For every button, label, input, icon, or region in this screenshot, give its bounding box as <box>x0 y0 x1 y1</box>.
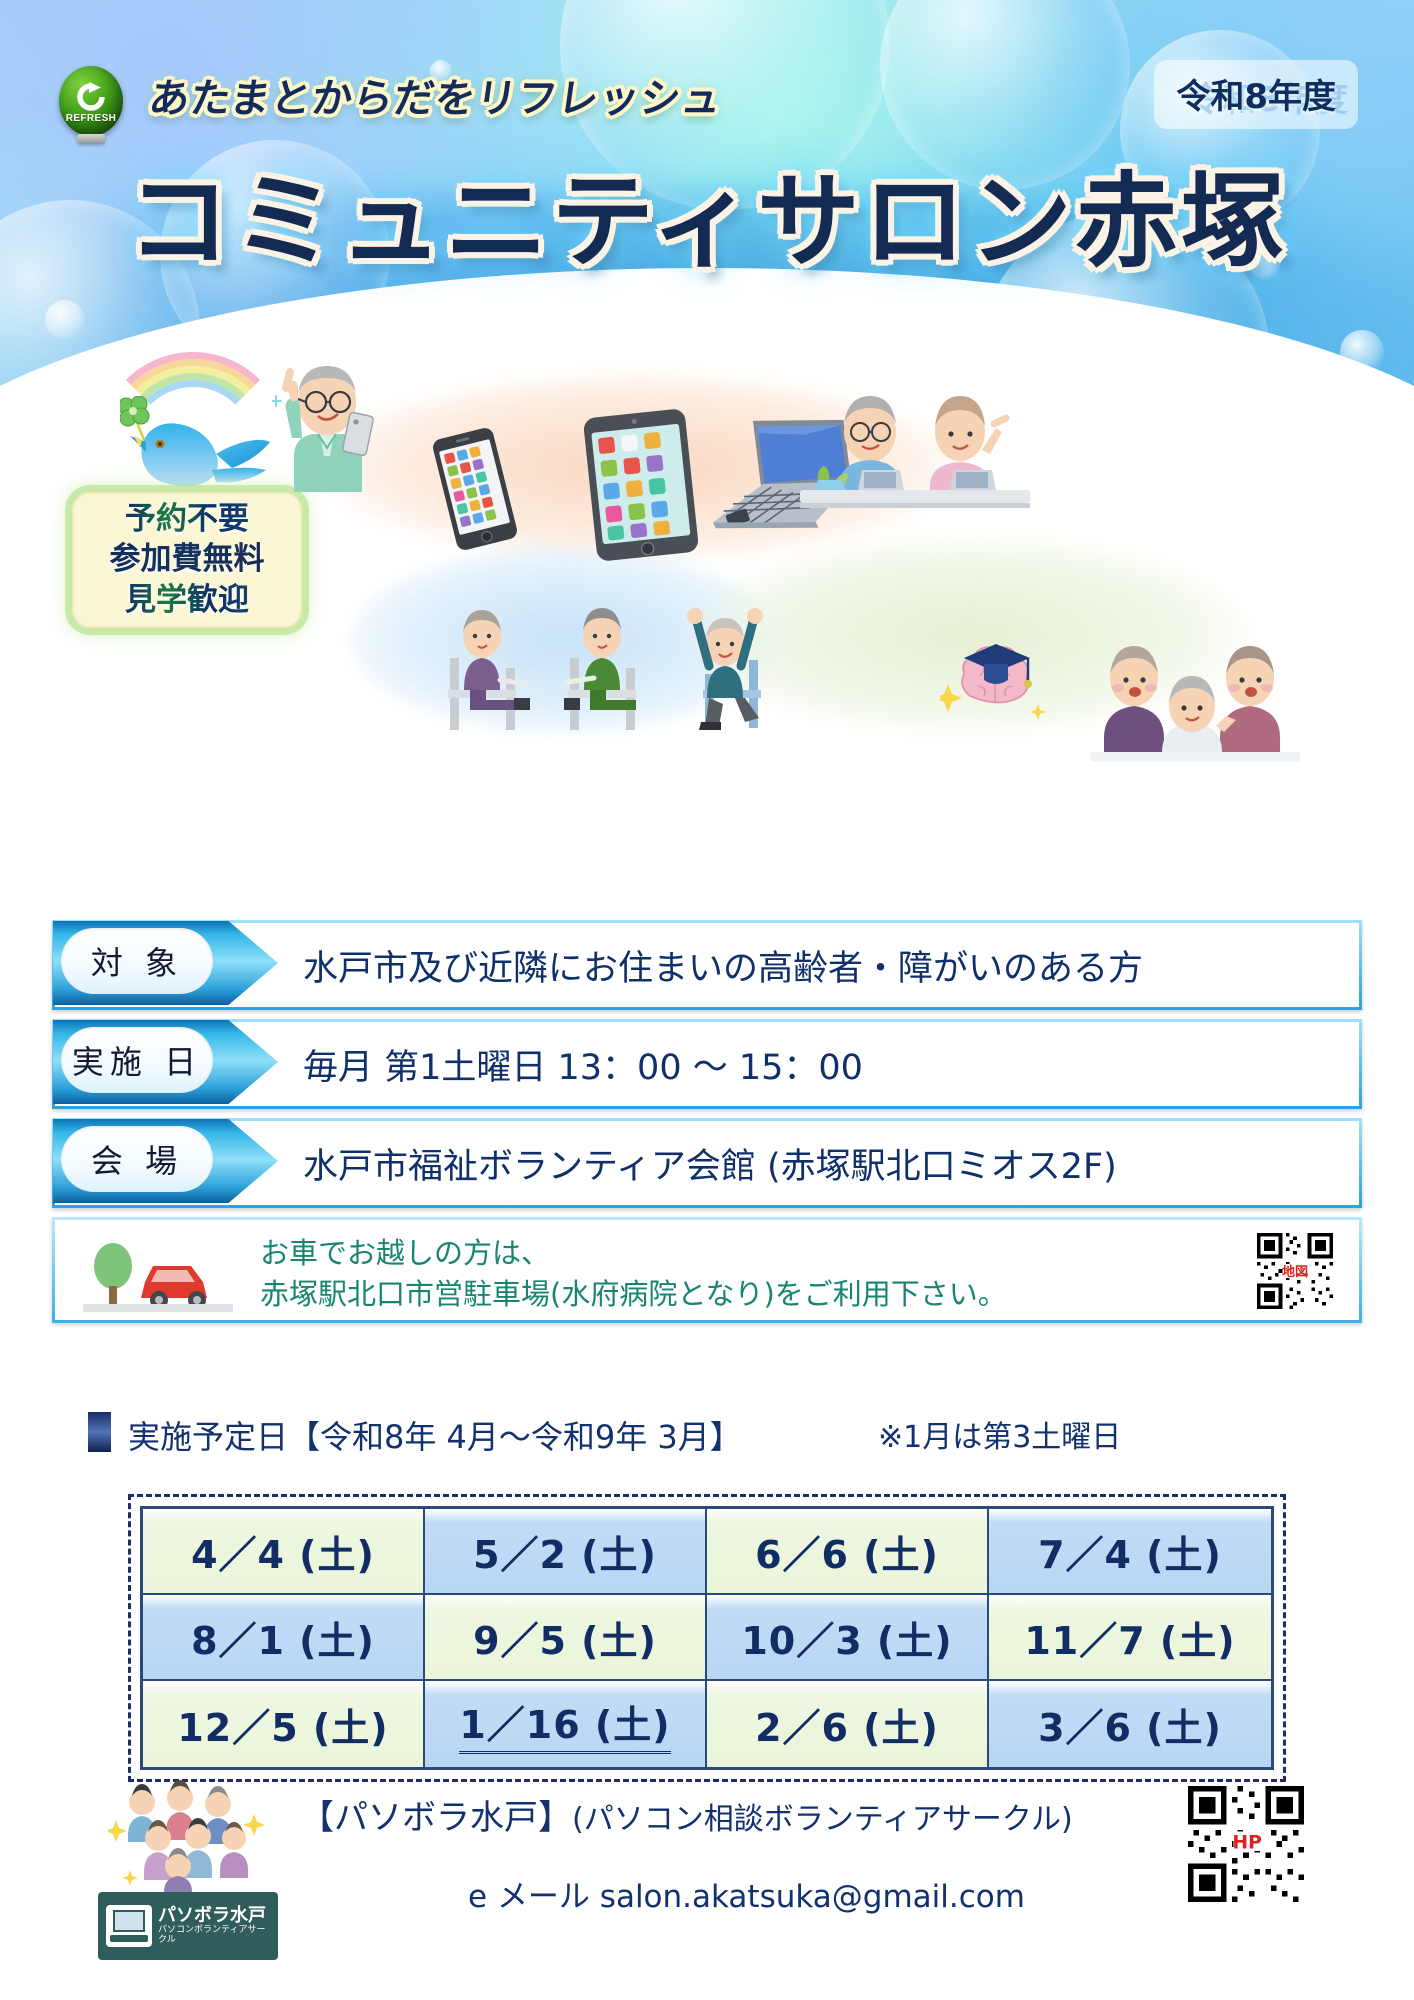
schedule-heading: 実施予定日【令和8年 4月〜令和9年 3月】 <box>128 1412 742 1458</box>
notice-box: 予約不要 参加費無料 見学歓迎 <box>72 492 302 628</box>
page-title: コミュニティサロン赤塚 <box>0 138 1414 287</box>
schedule-note: ※1月は第3土曜日 <box>878 1412 1121 1456</box>
schedule-date-cell: 2／6 (土) <box>707 1681 989 1767</box>
email-label: e メール <box>468 1879 590 1915</box>
pasovola-logo-badge: パソボラ水戸 パソコンボランティアサークル <box>98 1892 278 1960</box>
info-row-date: 実施 日 毎月 第1土曜日 13：00 〜 15：00 <box>52 1019 1362 1109</box>
organizer-subtitle: (パソコン相談ボランティアサークル) <box>572 1802 1073 1837</box>
info-label-text: 会 場 <box>61 1126 213 1192</box>
feature-section: 予約不要 参加費無料 見学歓迎 <box>0 330 1414 930</box>
seated-exercise-illustration <box>430 606 810 736</box>
parking-line-2: 赤塚駅北口市営駐車場(水府病院となり)をご利用下さい。 <box>260 1274 1007 1315</box>
map-qr-label: 地図 <box>1282 1264 1308 1280</box>
info-label-text: 対 象 <box>61 928 213 994</box>
schedule-date-text: 7／4 (土) <box>1038 1524 1222 1579</box>
schedule-date-cell: 10／3 (土) <box>707 1595 989 1681</box>
tablet-icon <box>578 405 703 566</box>
schedule-date-text: 1／16 (土) <box>459 1694 670 1754</box>
schedule-header: 実施予定日【令和8年 4月〜令和9年 3月】 ※1月は第3土曜日 <box>88 1406 1338 1456</box>
chatting-seniors-illustration <box>1090 626 1300 762</box>
schedule-date-text: 4／4 (土) <box>191 1524 375 1579</box>
schedule-date-text: 5／2 (土) <box>473 1524 657 1579</box>
info-row-target: 対 象 水戸市及び近隣にお住まいの高齢者・障がいのある方 <box>52 920 1362 1010</box>
bluebird-icon <box>120 396 280 496</box>
pasovola-badge-title: パソボラ水戸 <box>158 1906 270 1926</box>
schedule-accent-bar <box>88 1412 111 1452</box>
laptop-badge-icon <box>106 1905 152 1947</box>
notice-line-2: 参加費無料 <box>110 540 265 579</box>
email-line: e メール salon.akatsuka@gmail.com <box>468 1871 1025 1916</box>
notice-line-1: 予約不要 <box>125 500 249 539</box>
info-row-venue: 会 場 水戸市福祉ボランティア会館 (赤塚駅北口ミオス2F) <box>52 1118 1362 1208</box>
schedule-date-cell: 1／16 (土) <box>425 1681 707 1767</box>
info-table: 対 象 水戸市及び近隣にお住まいの高齢者・障がいのある方 実施 日 毎月 第1土… <box>52 920 1362 1323</box>
year-badge-text: 令和8年度 <box>1176 69 1336 118</box>
info-label-badge: 会 場 <box>53 1119 278 1203</box>
refresh-arrow-icon <box>75 78 107 112</box>
parking-row: お車でお越しの方は、 赤塚駅北口市営駐車場(水府病院となり)をご利用下さい。 <box>52 1217 1362 1323</box>
schedule-date-cell: 5／2 (土) <box>425 1509 707 1595</box>
refresh-logo-text: REFRESH <box>66 113 117 124</box>
schedule-date-text: 3／6 (土) <box>1038 1697 1222 1752</box>
schedule-date-text: 2／6 (土) <box>755 1697 939 1752</box>
senior-man-phone-illustration <box>272 352 382 492</box>
schedule-date-cell: 9／5 (土) <box>425 1595 707 1681</box>
organizer-line: 【パソボラ水戸】(パソコン相談ボランティアサークル) <box>300 1790 1073 1839</box>
schedule-date-cell: 12／5 (土) <box>143 1681 425 1767</box>
info-value-text: 水戸市福祉ボランティア会館 (赤塚駅北口ミオス2F) <box>303 1121 1117 1205</box>
info-label-badge: 対 象 <box>53 921 278 1005</box>
schedule-date-text: 10／3 (土) <box>741 1610 952 1665</box>
pasovola-badge-text: パソボラ水戸 パソコンボランティアサークル <box>158 1906 270 1946</box>
info-label-badge: 実施 日 <box>53 1020 278 1104</box>
flyer-page: REFRESH あたまとからだをリフレッシュ 令和8年度 令和8年度 コミュニテ… <box>0 0 1414 2000</box>
schedule-date-cell: 4／4 (土) <box>143 1509 425 1595</box>
brain-training-icon <box>940 630 1050 730</box>
schedule-date-cell: 3／6 (土) <box>989 1681 1271 1767</box>
schedule-grid: 4／4 (土)5／2 (土)6／6 (土)7／4 (土)8／1 (土)9／5 (… <box>140 1506 1274 1770</box>
year-badge: 令和8年度 令和8年度 <box>1154 60 1358 129</box>
homepage-qr-label: HP <box>1232 1832 1261 1853</box>
map-qr-code[interactable]: 地図 <box>1257 1233 1333 1309</box>
pasovola-badge-sub: パソコンボランティアサークル <box>158 1926 270 1946</box>
info-value-text: 水戸市及び近隣にお住まいの高齢者・障がいのある方 <box>303 923 1143 1007</box>
schedule-date-text: 8／1 (土) <box>191 1610 375 1665</box>
refresh-logo: REFRESH <box>55 62 127 148</box>
schedule-date-text: 11／7 (土) <box>1024 1610 1235 1665</box>
email-address[interactable]: salon.akatsuka@gmail.com <box>600 1879 1025 1915</box>
schedule-grid-wrapper: 4／4 (土)5／2 (土)6／6 (土)7／4 (土)8／1 (土)9／5 (… <box>128 1494 1286 1782</box>
volunteer-group-illustration <box>108 1780 268 1892</box>
schedule-date-cell: 8／1 (土) <box>143 1595 425 1681</box>
schedule-date-cell: 11／7 (土) <box>989 1595 1271 1681</box>
info-label-text: 実施 日 <box>61 1027 213 1093</box>
schedule-date-text: 12／5 (土) <box>177 1697 388 1752</box>
car-and-tree-icon <box>83 1236 233 1314</box>
info-value-text: 毎月 第1土曜日 13：00 〜 15：00 <box>303 1022 863 1106</box>
footer: パソボラ水戸 パソコンボランティアサークル 【パソボラ水戸】(パソコン相談ボラン… <box>0 1778 1414 1998</box>
homepage-qr-code[interactable]: HP <box>1188 1786 1304 1902</box>
parking-line-1: お車でお越しの方は、 <box>260 1233 1007 1274</box>
schedule-date-cell: 7／4 (土) <box>989 1509 1271 1595</box>
organizer-name: 【パソボラ水戸】 <box>300 1798 572 1838</box>
schedule-date-text: 9／5 (土) <box>473 1610 657 1665</box>
notice-line-3: 見学歓迎 <box>125 581 249 620</box>
schedule-date-cell: 6／6 (土) <box>707 1509 989 1595</box>
tagline: あたまとからだをリフレッシュ <box>146 66 727 124</box>
schedule-date-text: 6／6 (土) <box>755 1524 939 1579</box>
seniors-with-laptops-illustration <box>800 366 1030 516</box>
refresh-badge: REFRESH <box>59 66 123 136</box>
parking-text: お車でお越しの方は、 赤塚駅北口市営駐車場(水府病院となり)をご利用下さい。 <box>260 1233 1007 1315</box>
